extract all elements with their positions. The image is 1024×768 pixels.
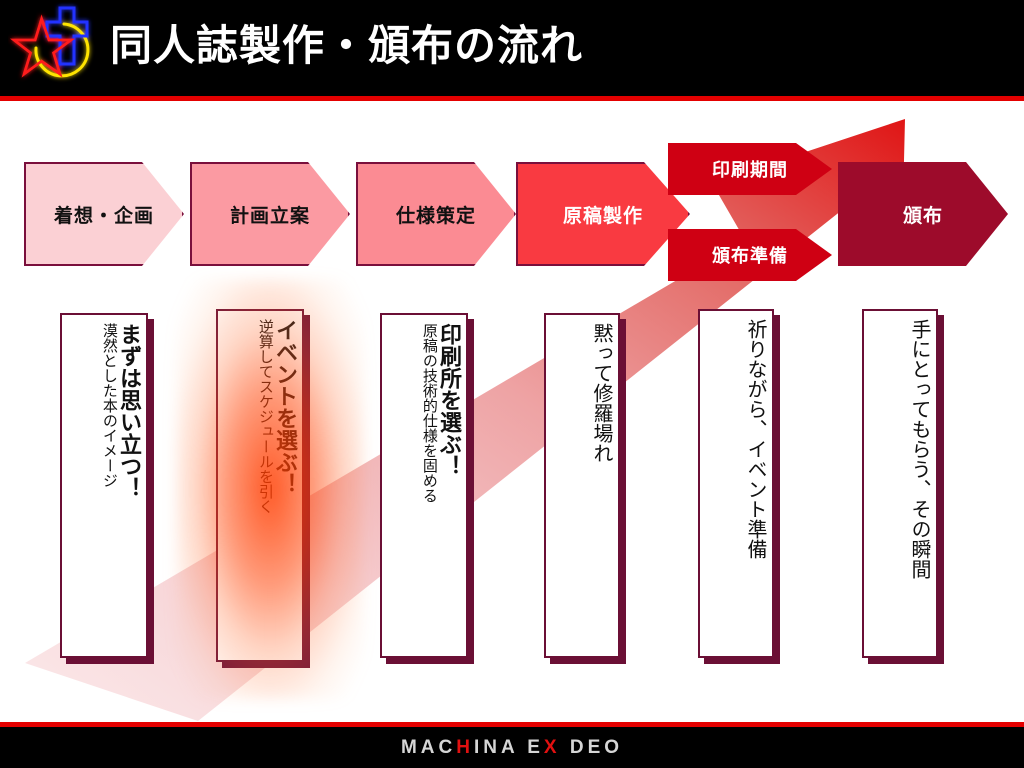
note-box-3[interactable]: 印刷所を選ぶ！ 原稿の技術的仕様を固める: [380, 313, 468, 658]
brand-part-2: INA E: [474, 737, 544, 758]
flow-stage-label: 頒布準備: [712, 242, 788, 268]
brand-part-1: MAC: [401, 737, 456, 758]
note-box-6[interactable]: 手にとってもらう、その瞬間: [862, 309, 938, 658]
slide-body: 着想・企画 計画立案 仕様策定 原稿製作 印刷期間 頒布準備 頒布 ま: [0, 101, 1024, 722]
note-heading: 黙って修羅場れ: [591, 323, 612, 463]
note-heading: 祈りながら、イベント準備: [745, 319, 766, 559]
brand-part-3: DEO: [561, 737, 623, 758]
flow-stage-label: 仕様策定: [396, 201, 476, 228]
note-heading: 手にとってもらう、その瞬間: [909, 319, 930, 579]
flow-stage-label: 印刷期間: [712, 156, 788, 182]
note-box-5[interactable]: 祈りながら、イベント準備: [698, 309, 774, 658]
brand-accent-2: X: [544, 737, 561, 758]
page-title: 同人誌製作・頒布の流れ: [110, 16, 583, 76]
star-cross-crescent-logo: [8, 2, 108, 94]
slide-footer: MACHINA EX DEO: [0, 727, 1024, 768]
flow-stage-label: 原稿製作: [563, 201, 643, 228]
flow-stage-label: 頒布: [903, 201, 943, 228]
note-box-1[interactable]: まずは思い立つ！ 漠然とした本のイメージ: [60, 313, 148, 658]
brand-wordmark: MACHINA EX DEO: [401, 737, 623, 759]
brand-accent-1: H: [456, 737, 474, 758]
note-subtext: 漠然とした本のイメージ: [101, 323, 117, 488]
flow-stage-label: 計画立案: [230, 201, 310, 228]
note-heading: まずは思い立つ！: [117, 323, 140, 499]
slide-header: 同人誌製作・頒布の流れ: [0, 0, 1024, 98]
highlight-glow: [176, 279, 364, 699]
flow-stage-label: 着想・企画: [54, 201, 154, 228]
note-box-4[interactable]: 黙って修羅場れ: [544, 313, 620, 658]
slide: 同人誌製作・頒布の流れ 着想・企画 計画立案: [0, 0, 1024, 768]
note-heading: 印刷所を選ぶ！: [437, 323, 460, 477]
note-subtext: 原稿の技術的仕様を固める: [421, 323, 437, 503]
